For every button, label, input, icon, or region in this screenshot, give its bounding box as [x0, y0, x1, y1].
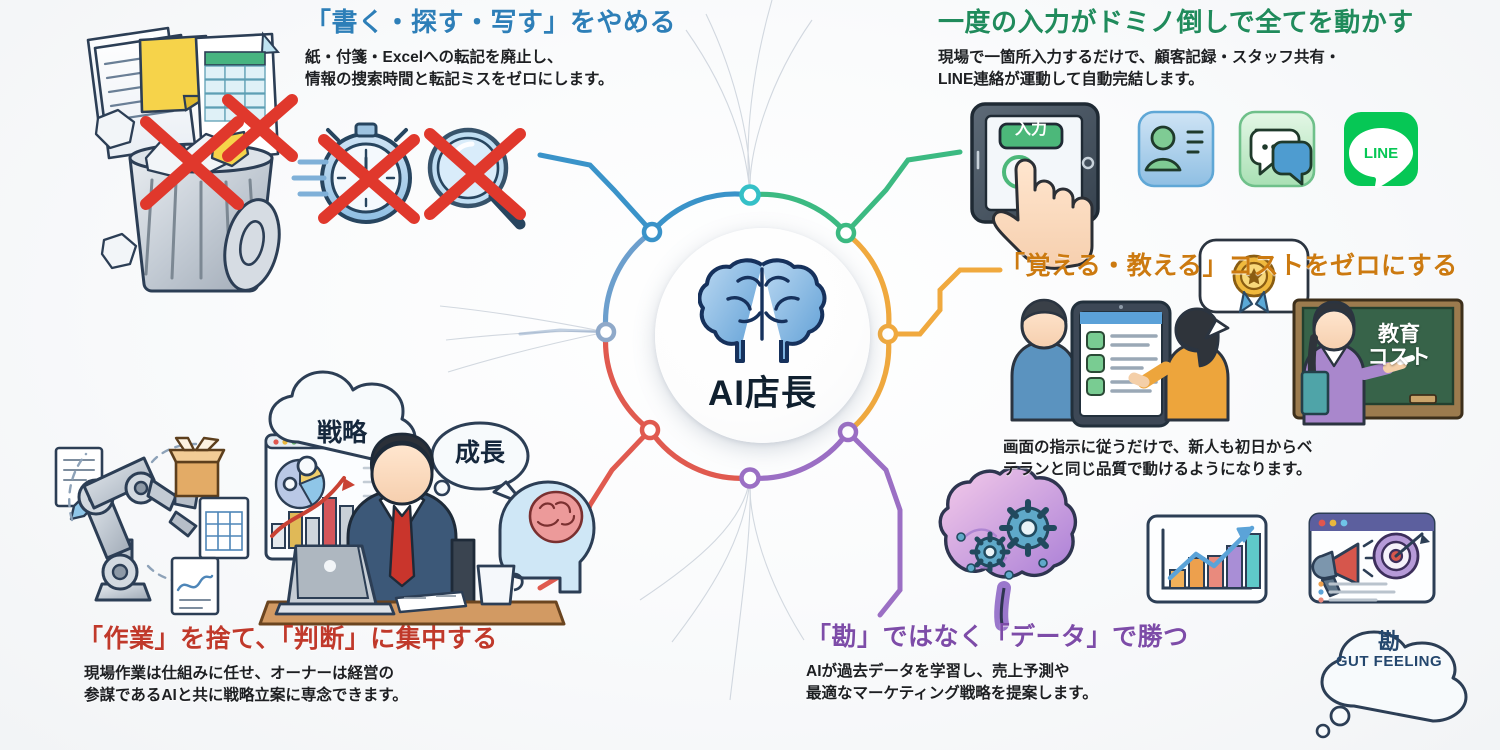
body-line: AIが過去データを学習し、売上予測や	[806, 661, 1098, 683]
body-data-wins: AIが過去データを学習し、売上予測や 最適なマーケティング戦略を提案します。	[806, 661, 1098, 705]
body-line: 情報の捜索時間と転記ミスをゼロにします。	[305, 69, 613, 91]
body-line: 画面の指示に従うだけで、新人も初日からベ	[1003, 437, 1312, 459]
body-line: テランと同じ品質で動けるようになります。	[1003, 459, 1312, 481]
brain-icon	[698, 255, 828, 363]
heading-paperless: 「書く・探す・写す」をやめる	[305, 8, 676, 38]
trash-can-icon	[130, 132, 287, 295]
gear-icon	[1002, 502, 1054, 554]
body-line: 現場で一箇所入力するだけで、顧客記録・スタッフ共有・	[938, 47, 1340, 69]
blackboard-text: 教育 コスト	[1356, 323, 1442, 369]
infographic-canvas: LINE	[0, 0, 1500, 750]
motion-lines-icon	[294, 162, 326, 194]
chat-bubble-icon	[1240, 112, 1314, 186]
body-line: 参謀であるAIと共に戦略立案に専念できます。	[84, 685, 408, 707]
svg-text:LINE: LINE	[1364, 145, 1398, 162]
gut-feeling-english: GUT FEELING	[1318, 654, 1460, 671]
spreadsheet-icon	[200, 498, 248, 558]
heading-one-input: 一度の入力がドミノ倒しで全てを動かす	[938, 8, 1414, 38]
report-icon	[172, 558, 218, 614]
contact-card-icon	[1139, 112, 1213, 186]
body-line: 最適なマーケティング戦略を提案します。	[806, 683, 1098, 705]
growth-chart-icon	[1148, 516, 1266, 602]
body-focus-judgement: 現場作業は仕組みに任せ、オーナーは経営の 参謀であるAIと共に戦略立案に専念でき…	[84, 663, 408, 707]
bubble-growth-label: 成長	[440, 440, 520, 468]
brain-gears-icon	[940, 468, 1075, 624]
crumpled-paper-icon	[96, 110, 136, 268]
body-line: 現場作業は仕組みに任せ、オーナーは経営の	[84, 663, 408, 685]
body-line: LINE連絡が運動して自動完結します。	[938, 69, 1340, 91]
body-line: 紙・付箋・Excelへの転記を廃止し、	[305, 47, 613, 69]
illustration-focus-judgement	[56, 372, 594, 624]
heading-training-cost: 「覚える・教える」コストをゼロにする	[1000, 252, 1458, 281]
tablet-checklist-icon	[1072, 302, 1170, 426]
gut-feeling-kanji: 勘	[1342, 630, 1436, 654]
center-hub[interactable]: AI店長	[655, 228, 870, 443]
heading-focus-judgement: 「作業」を捨て、「判断」に集中する	[78, 625, 498, 654]
bubble-strategy-label: 戦略	[296, 420, 388, 448]
marketing-window-icon	[1310, 514, 1434, 603]
gear-icon	[972, 534, 1008, 570]
body-one-input: 現場で一箇所入力するだけで、顧客記録・スタッフ共有・ LINE連絡が運動して自動…	[938, 47, 1340, 91]
tablet-input-label: 入力	[1002, 121, 1060, 139]
body-paperless: 紙・付箋・Excelへの転記を廃止し、 情報の捜索時間と転記ミスをゼロにします。	[305, 47, 613, 91]
body-training-cost: 画面の指示に従うだけで、新人も初日からベ テランと同じ品質で動けるようになります…	[1003, 437, 1312, 481]
center-label: AI店長	[708, 365, 817, 416]
line-app-icon: LINE	[1344, 112, 1418, 188]
heading-data-wins: 「勘」ではなく「データ」で勝つ	[806, 623, 1189, 652]
